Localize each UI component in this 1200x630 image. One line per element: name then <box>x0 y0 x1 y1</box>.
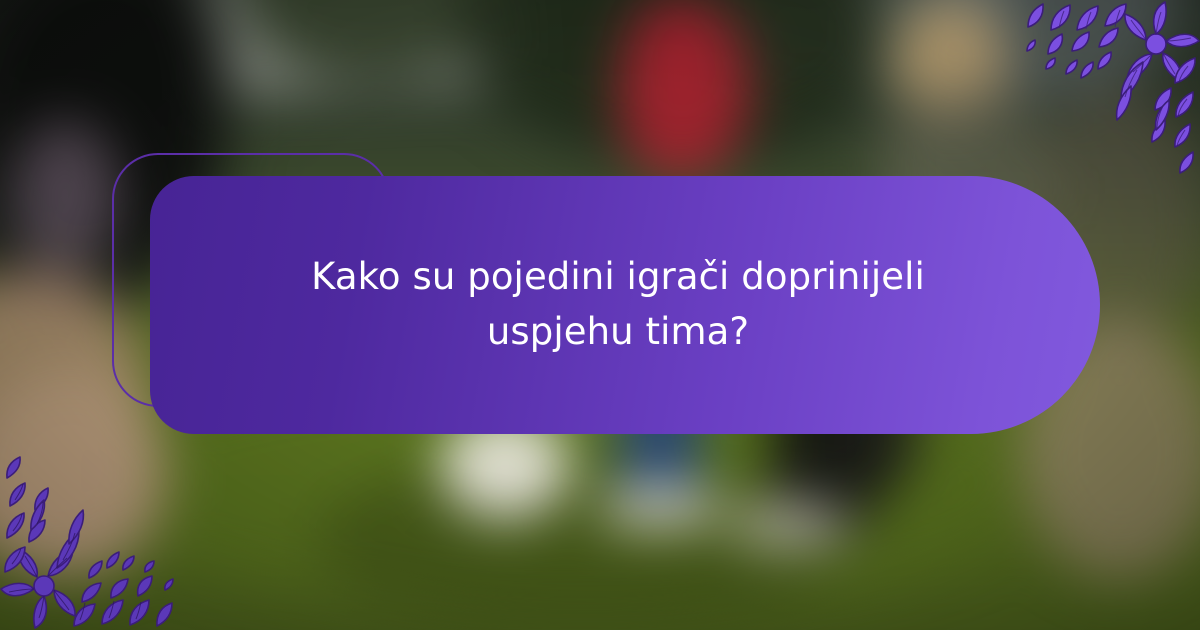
social-quote-card: Kako su pojedini igrači doprinijeli uspj… <box>0 0 1200 630</box>
quote-card: Kako su pojedini igrači doprinijeli uspj… <box>150 176 1100 434</box>
quote-title: Kako su pojedini igrači doprinijeli uspj… <box>258 250 978 360</box>
